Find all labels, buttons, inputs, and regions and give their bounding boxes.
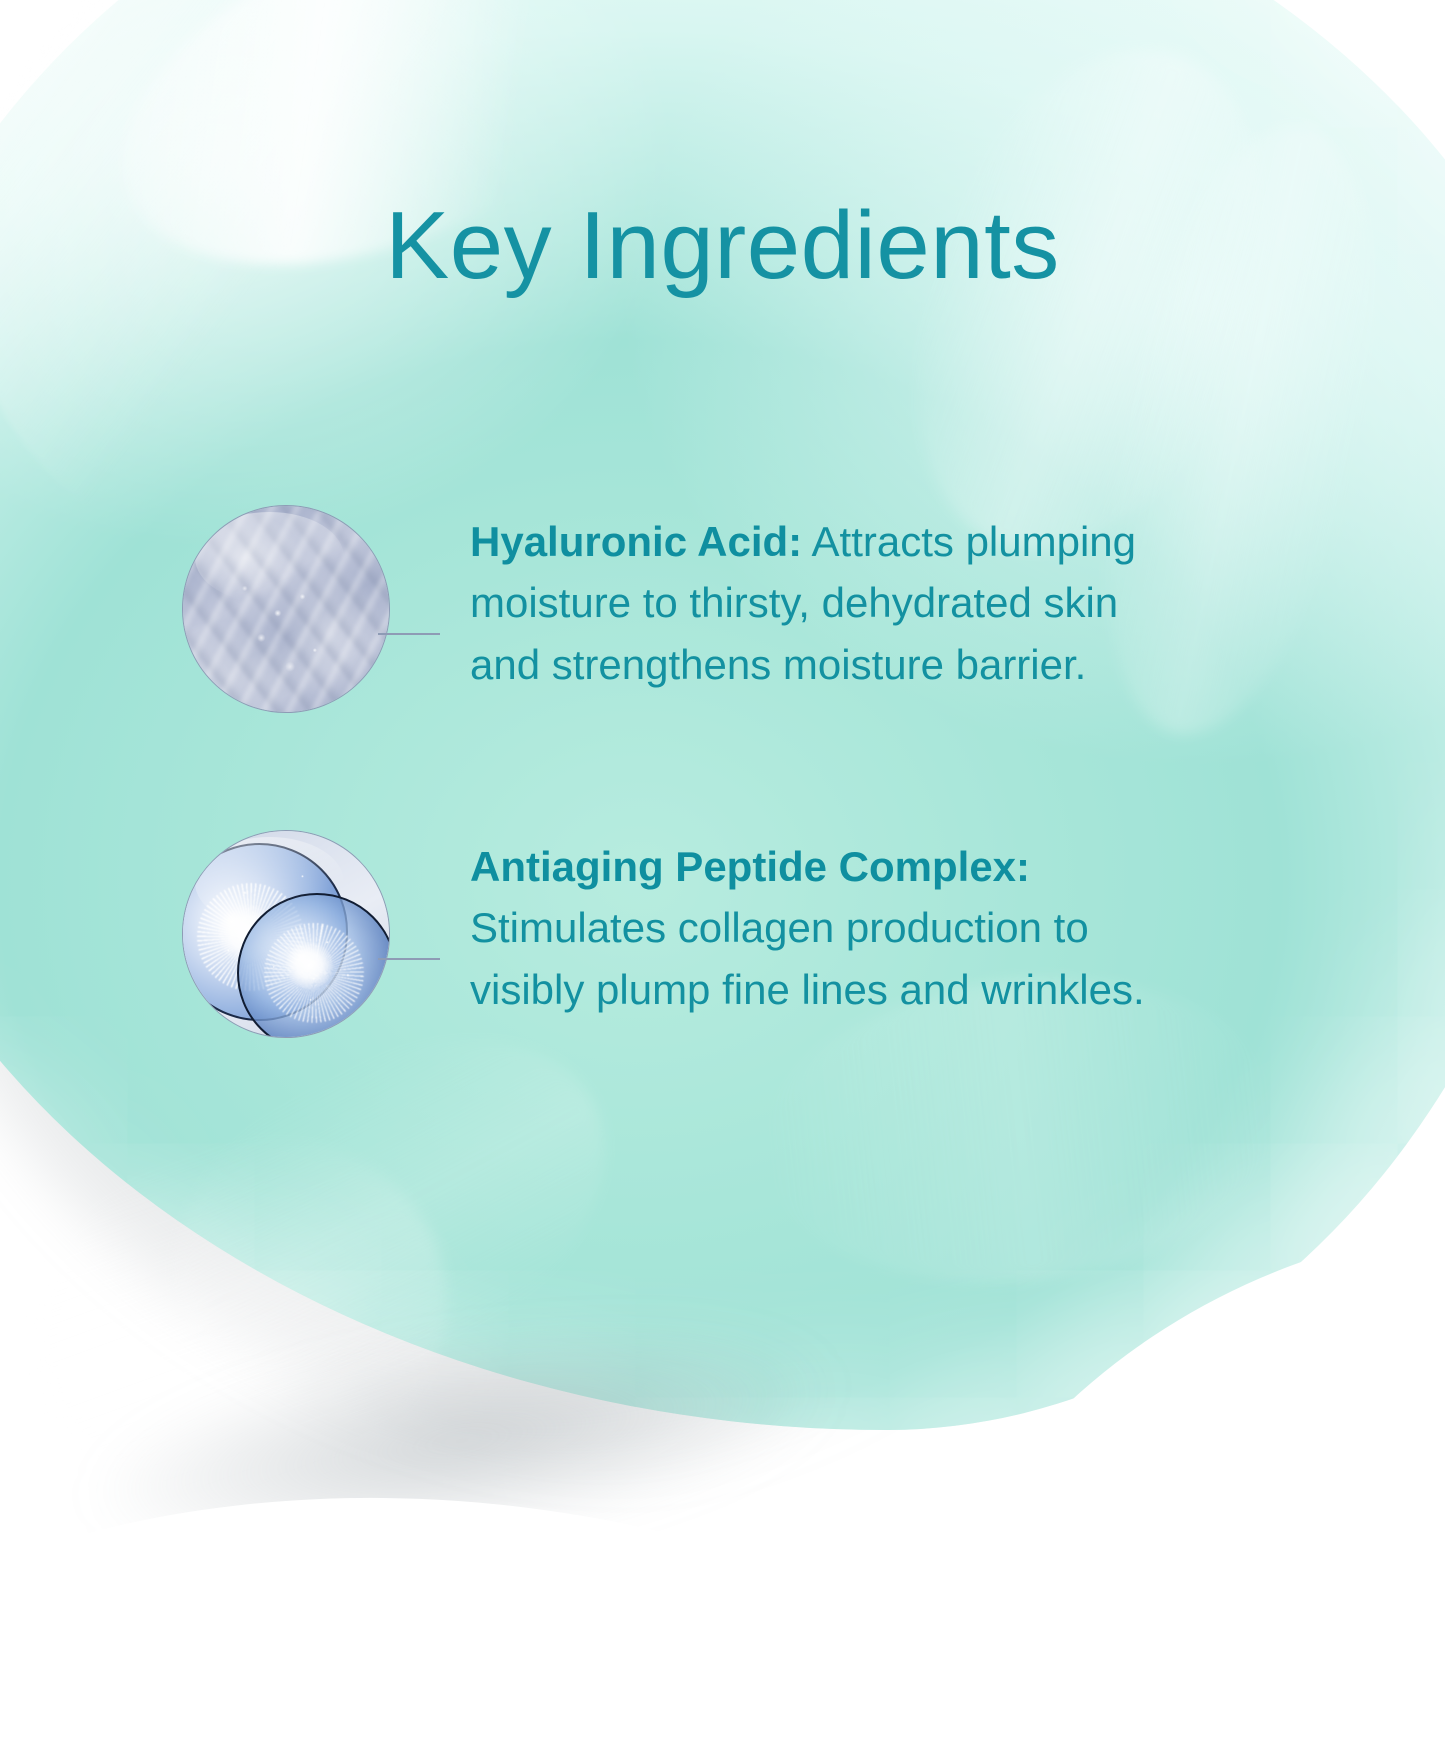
peptide-texture-fill bbox=[183, 831, 389, 1037]
ingredient-item-hyaluronic-acid: Hyaluronic Acid: Attracts plumping moist… bbox=[182, 505, 1160, 713]
ingredient-thumbnail-wrap bbox=[182, 830, 390, 1038]
ingredient-item-antiaging-peptide-complex: Antiaging Peptide Complex: Stimulates co… bbox=[182, 830, 1150, 1038]
ingredient-name: Antiaging Peptide Complex: bbox=[470, 843, 1030, 890]
water-texture-fill bbox=[183, 506, 389, 712]
ingredient-description: Hyaluronic Acid: Attracts plumping moist… bbox=[470, 505, 1160, 695]
connector-line bbox=[378, 633, 440, 635]
key-ingredients-panel: Key Ingredients Hyaluronic Acid: Attract… bbox=[0, 0, 1445, 1738]
page-title: Key Ingredients bbox=[0, 196, 1445, 297]
ingredient-description: Antiaging Peptide Complex: Stimulates co… bbox=[470, 830, 1150, 1020]
peptide-spheres-icon bbox=[182, 830, 390, 1038]
ingredient-name: Hyaluronic Acid: bbox=[470, 518, 802, 565]
water-texture-icon bbox=[182, 505, 390, 713]
peptide-sparkles bbox=[183, 831, 389, 1037]
connector-line bbox=[378, 958, 440, 960]
ingredient-thumbnail-wrap bbox=[182, 505, 390, 713]
ingredient-body-text: Stimulates collagen production to visibl… bbox=[470, 904, 1145, 1012]
